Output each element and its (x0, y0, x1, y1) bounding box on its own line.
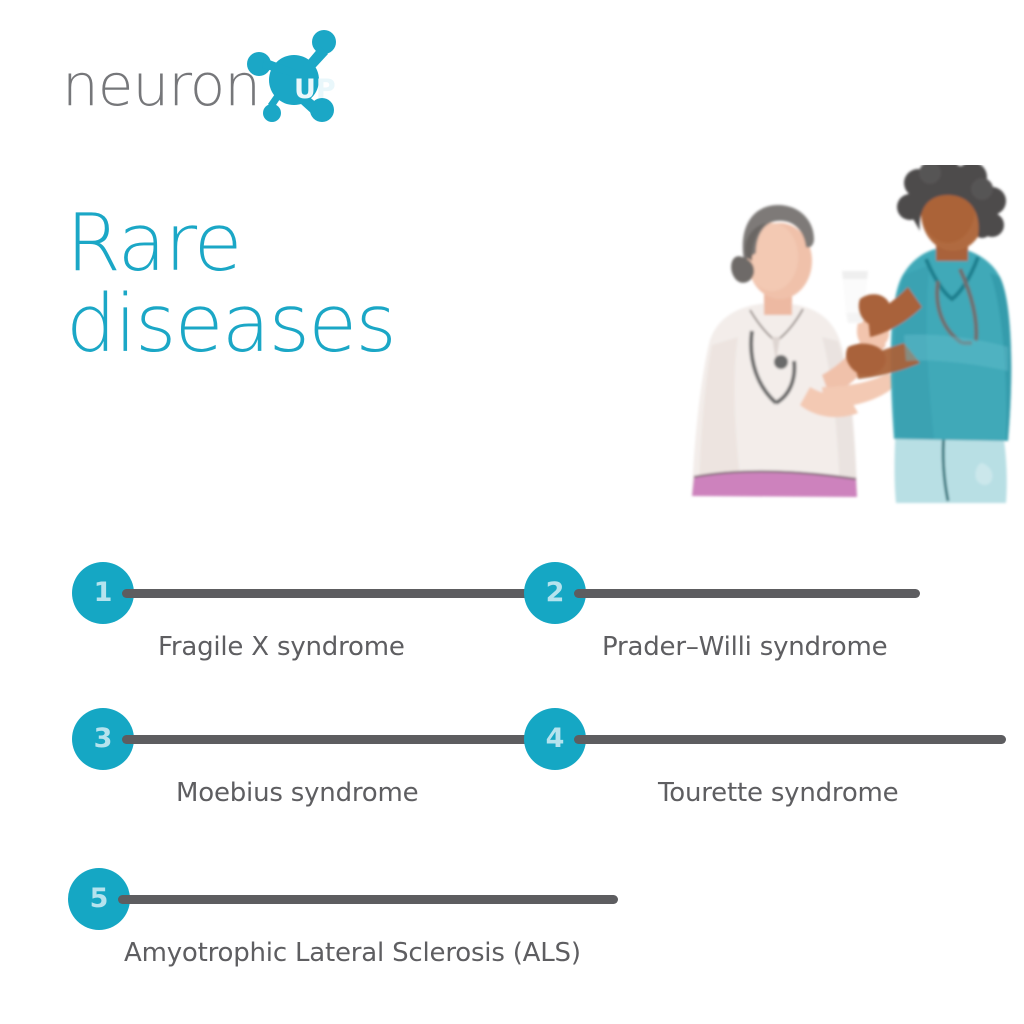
bullet-number: 1 (94, 579, 113, 606)
list-item-label: Prader–Willi syndrome (602, 632, 887, 662)
brand-wordmark: neuron (62, 56, 260, 114)
bullet-line (122, 735, 542, 744)
brand-logo[interactable]: neuron UP (62, 28, 332, 126)
list-item-label: Fragile X syndrome (158, 632, 405, 662)
bullet-number: 2 (546, 579, 565, 606)
nurse-figure (846, 165, 1011, 503)
brand-suffix: UP (294, 76, 336, 103)
bullet-number: 3 (94, 725, 113, 752)
list-item-label: Amyotrophic Lateral Sclerosis (ALS) (124, 938, 581, 968)
bullet-number: 5 (90, 885, 109, 912)
list-item-label: Tourette syndrome (658, 778, 898, 808)
nurse-and-patient-illustration (672, 165, 1024, 520)
list-item-label: Moebius syndrome (176, 778, 418, 808)
bullet-number: 4 (546, 725, 565, 752)
bullet-line (118, 895, 618, 904)
page-title: Rare diseases (66, 203, 395, 366)
bullet-line (574, 735, 1006, 744)
bullet-line (574, 589, 920, 598)
bullet-line (122, 589, 542, 598)
